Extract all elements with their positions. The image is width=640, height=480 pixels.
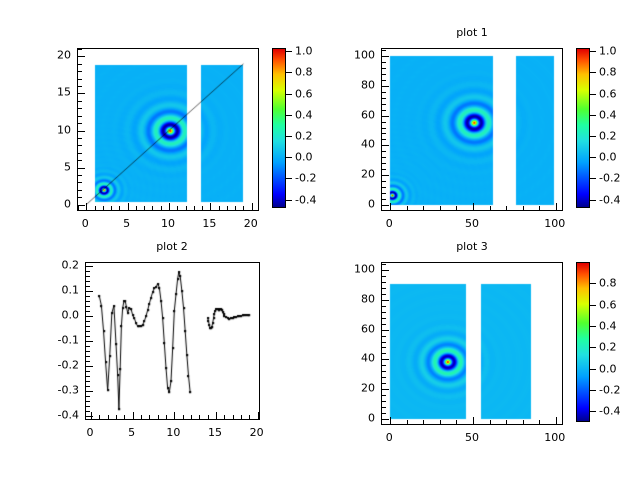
plot2-xtick [216, 412, 217, 419]
plot2-yticklabel: -0.1 [41, 334, 79, 345]
plot2-xticklabel: 15 [208, 427, 222, 438]
plot2-axes [85, 262, 260, 420]
plot2-xticklabel: 20 [250, 427, 264, 438]
plot2-xtick [124, 415, 125, 419]
plot2-yticklabel: 0.1 [41, 284, 79, 295]
plot2-ytick [86, 326, 90, 327]
plot2-yticklabel: -0.2 [41, 359, 79, 370]
plot2-xtick [241, 415, 242, 419]
plot2-ytick [86, 321, 90, 322]
plot2-yticklabel: 0.0 [41, 309, 79, 320]
plot2-xtick [191, 415, 192, 419]
plot2-xtick [183, 415, 184, 419]
plot2-xtick [149, 415, 150, 419]
plot2-ytick [86, 286, 90, 287]
plot2-ytick [86, 346, 90, 347]
plot2-xtick [249, 415, 250, 419]
plot2-xtick [166, 415, 167, 419]
plot2-xticklabel: 0 [87, 427, 94, 438]
plot2-ytick [86, 356, 90, 357]
plot2-ytick [86, 311, 90, 312]
plot2-yticklabel: -0.3 [41, 384, 79, 395]
plot2-xtick [158, 415, 159, 419]
plot2-title: plot 2 [112, 241, 232, 253]
plot2-ytick [86, 306, 90, 307]
plot2-ytick [86, 411, 90, 412]
plot2-xtick [99, 415, 100, 419]
plot2-ytick [86, 401, 90, 402]
plot2-xtick [258, 412, 259, 419]
plot2-data [86, 263, 260, 420]
plot2-xtick [233, 415, 234, 419]
plot2-ytick [86, 296, 90, 297]
plot2-ytick [86, 266, 93, 267]
plot2-yticklabel: -0.4 [41, 409, 79, 420]
plot2-ytick [86, 351, 90, 352]
plot2-ytick [86, 396, 90, 397]
plot2-ytick [86, 301, 90, 302]
plot2-ytick [86, 336, 90, 337]
plot2-yticklabel: 0.2 [41, 259, 79, 270]
plot2-ytick [86, 391, 93, 392]
plot2-xtick [174, 412, 175, 419]
plot2-ytick [86, 376, 90, 377]
bottom-left-line-panel: plot 2051015200.20.10.0-0.1-0.2-0.3-0.4 [0, 0, 640, 480]
plot2-xtick [199, 415, 200, 419]
plot2-xticklabel: 10 [166, 427, 180, 438]
plot2-ytick [86, 406, 90, 407]
plot2-ytick [86, 371, 90, 372]
plot2-ytick [86, 271, 90, 272]
plot2-ytick [86, 281, 90, 282]
plot2-ytick [86, 366, 93, 367]
plot2-xtick [116, 415, 117, 419]
plot2-xtick [208, 415, 209, 419]
figure-canvas: 05101520051015201.00.80.60.40.20.0-0.2-0… [0, 0, 640, 480]
plot2-xticklabel: 5 [128, 427, 135, 438]
plot2-xtick [108, 415, 109, 419]
plot2-ytick [86, 316, 93, 317]
plot2-xtick [133, 412, 134, 419]
plot2-xtick [141, 415, 142, 419]
plot2-ytick [86, 276, 90, 277]
plot2-ytick [86, 416, 93, 417]
plot2-xtick [224, 415, 225, 419]
plot2-ytick [86, 381, 90, 382]
plot2-ytick [86, 386, 90, 387]
plot2-ytick [86, 341, 93, 342]
plot2-ytick [86, 291, 93, 292]
plot2-ytick [86, 331, 90, 332]
plot2-ytick [86, 361, 90, 362]
